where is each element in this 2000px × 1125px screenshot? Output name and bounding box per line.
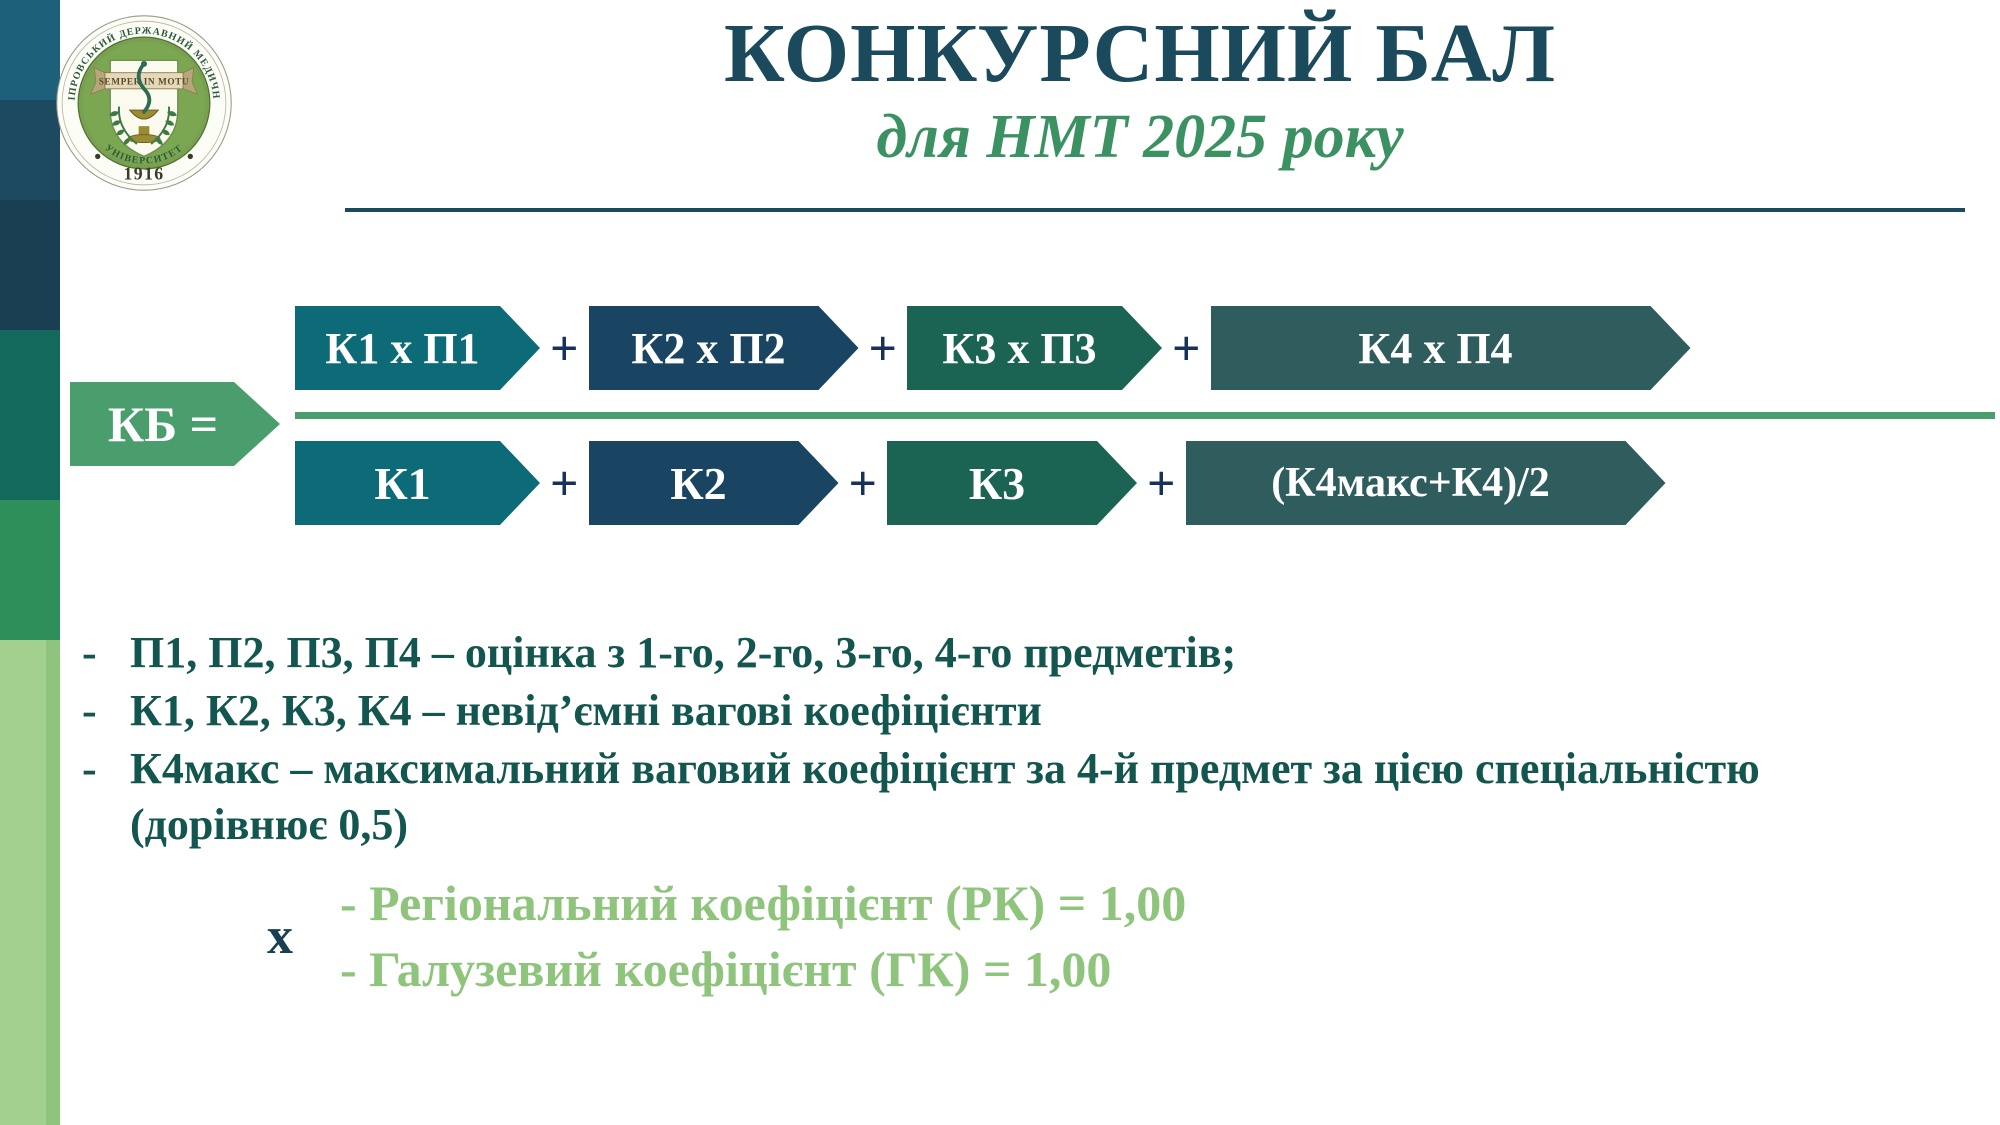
page-title: КОНКУРСНИЙ БАЛ bbox=[330, 10, 1950, 98]
sidebar-band-green bbox=[0, 330, 60, 500]
legend-marker: - bbox=[82, 741, 130, 797]
denominator-chip-k2: К2 bbox=[589, 441, 839, 525]
university-logo: ДНІПРОВСЬКИЙ ДЕРЖАВНИЙ МЕДИЧНИЙ УНІВЕРСИ… bbox=[55, 14, 233, 192]
legend-list: - П1, П2, П3, П4 – оцінка з 1-го, 2-го, … bbox=[82, 625, 1802, 855]
denominator-chip-k3: К3 bbox=[887, 441, 1137, 525]
formula-numerator-row: К1 х П1 + К2 х П2 + К3 х П3 + К4 х П4 bbox=[295, 300, 1995, 396]
denominator-label-k2: К2 bbox=[670, 457, 726, 510]
legend-text-k4max: К4макс – максимальний ваговий коефіцієнт… bbox=[130, 741, 1802, 853]
numerator-operator-1: + bbox=[540, 306, 589, 390]
numerator-chip-k3p3: К3 х П3 bbox=[907, 306, 1162, 390]
coefficient-regional: - Регіональний коефіцієнт (РК) = 1,00 bbox=[340, 870, 1820, 936]
fraction-bar bbox=[295, 412, 1995, 419]
sidebar-band-accent bbox=[46, 640, 60, 1125]
denominator-chip-k1: К1 bbox=[295, 441, 540, 525]
legend-marker: - bbox=[82, 683, 130, 739]
page-subtitle: для НМТ 2025 року bbox=[330, 102, 1950, 173]
title-block: КОНКУРСНИЙ БАЛ для НМТ 2025 року bbox=[330, 10, 1950, 173]
legend-item: - К4макс – максимальний ваговий коефіціє… bbox=[82, 741, 1802, 853]
sidebar-band-mid-green bbox=[0, 500, 60, 640]
numerator-label-k1p1: К1 х П1 bbox=[325, 323, 479, 374]
slide-root: ДНІПРОВСЬКИЙ ДЕРЖАВНИЙ МЕДИЧНИЙ УНІВЕРСИ… bbox=[0, 0, 2000, 1125]
legend-text-subjects: П1, П2, П3, П4 – оцінка з 1-го, 2-го, 3-… bbox=[130, 625, 1802, 681]
coefficient-sectoral: - Галузевий коефіцієнт (ГК) = 1,00 bbox=[340, 936, 1820, 1002]
sidebar-band-teal bbox=[0, 0, 60, 100]
denominator-label-k4max: (К4макс+К4)/2 bbox=[1271, 459, 1550, 507]
legend-item: - П1, П2, П3, П4 – оцінка з 1-го, 2-го, … bbox=[82, 625, 1802, 681]
legend-marker: - bbox=[82, 625, 130, 681]
left-color-sidebar bbox=[0, 0, 60, 1125]
numerator-label-k2p2: К2 х П2 bbox=[631, 323, 785, 374]
legend-item: - К1, К2, К3, К4 – невід’ємні вагові кое… bbox=[82, 683, 1802, 739]
formula-denominator-row: К1 + К2 + К3 + (К4макс+К4)/2 bbox=[295, 435, 1995, 531]
denominator-label-k3: К3 bbox=[969, 457, 1025, 510]
numerator-operator-2: + bbox=[859, 306, 908, 390]
formula-diagram: КБ = К1 х П1 + К2 х П2 + К3 х П3 + К4 х … bbox=[60, 300, 2000, 560]
formula-lhs-label: КБ = bbox=[108, 395, 218, 453]
formula-lhs-chip: КБ = bbox=[70, 382, 280, 466]
denominator-operator-1: + bbox=[540, 441, 589, 525]
sidebar-band-navy bbox=[0, 200, 60, 330]
title-divider bbox=[345, 208, 1965, 212]
numerator-chip-k4p4: К4 х П4 bbox=[1211, 306, 1691, 390]
svg-text:1916: 1916 bbox=[124, 164, 165, 184]
denominator-label-k1: К1 bbox=[374, 457, 430, 510]
denominator-operator-3: + bbox=[1137, 441, 1186, 525]
denominator-operator-2: + bbox=[839, 441, 888, 525]
denominator-chip-k4max: (К4макс+К4)/2 bbox=[1186, 441, 1666, 525]
coefficients-block: х - Регіональний коефіцієнт (РК) = 1,00 … bbox=[220, 870, 1820, 1002]
numerator-label-k4p4: К4 х П4 bbox=[1358, 323, 1512, 374]
numerator-label-k3p3: К3 х П3 bbox=[942, 323, 1096, 374]
multiplier-symbol: х bbox=[220, 907, 340, 966]
numerator-chip-k1p1: К1 х П1 bbox=[295, 306, 540, 390]
formula-fraction: К1 х П1 + К2 х П2 + К3 х П3 + К4 х П4 bbox=[295, 300, 1995, 555]
numerator-chip-k2p2: К2 х П2 bbox=[589, 306, 859, 390]
numerator-operator-3: + bbox=[1162, 306, 1211, 390]
coefficients-lines: - Регіональний коефіцієнт (РК) = 1,00 - … bbox=[340, 870, 1820, 1002]
legend-text-coefficients: К1, К2, К3, К4 – невід’ємні вагові коефі… bbox=[130, 683, 1802, 739]
sidebar-band-dark-teal bbox=[0, 100, 60, 200]
